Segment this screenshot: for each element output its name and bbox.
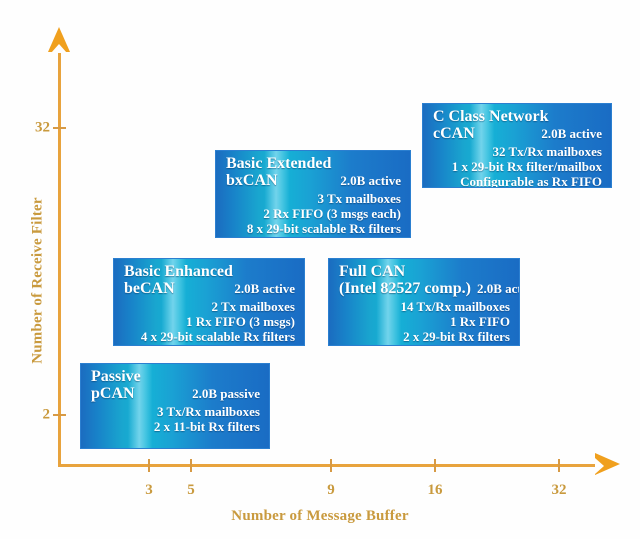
y-axis-tick (53, 127, 66, 129)
can-box-title: Basic Enhanced (124, 264, 295, 281)
can-controller-comparison-diagram: 3591632 322 Number of Message Buffer Num… (0, 0, 640, 539)
can-box-pcan[interactable]: PassivepCAN2.0B passive3 Tx/Rx mailboxes… (80, 363, 270, 449)
can-box-subtitle: bxCAN (226, 173, 278, 190)
can-box-spec: 2 Rx FIFO (3 msgs each) (226, 206, 401, 221)
can-box-content: Basic EnhancedbeCAN2.0B active2 Tx mailb… (114, 259, 304, 345)
can-box-subtitle-row: beCAN2.0B active (124, 281, 295, 298)
x-axis-tick (558, 459, 560, 472)
y-axis-title: Number of Receive Filter (30, 161, 47, 401)
can-box-spec: 2.0B active (541, 126, 602, 141)
can-box-subtitle: beCAN (124, 281, 175, 298)
can-box-spec: 2.0B active (234, 281, 295, 296)
can-box-subtitle: (Intel 82527 comp.) (339, 281, 471, 298)
can-box-spec: 2.0B passive (192, 386, 260, 401)
x-axis-tick-label: 5 (187, 482, 195, 499)
can-box-spec: 1 Rx FIFO (339, 314, 510, 329)
x-axis-tick (434, 459, 436, 472)
can-box-spec: 3 Tx/Rx mailboxes (91, 404, 260, 419)
can-box-content: C Class NetworkcCAN2.0B active32 Tx/Rx m… (423, 104, 611, 187)
x-axis-tick-label: 16 (428, 482, 443, 499)
can-box-bxcan[interactable]: Basic ExtendedbxCAN2.0B active3 Tx mailb… (215, 150, 411, 238)
can-box-spec: 1 Rx FIFO (3 msgs) (124, 314, 295, 329)
can-box-title: Full CAN (339, 264, 510, 281)
can-box-becan[interactable]: Basic EnhancedbeCAN2.0B active2 Tx mailb… (113, 258, 305, 346)
can-box-spec-list: 3 Tx mailboxes2 Rx FIFO (3 msgs each)8 x… (226, 191, 401, 237)
can-box-title: Passive (91, 369, 260, 386)
can-box-subtitle-row: bxCAN2.0B active (226, 173, 401, 190)
can-box-spec: 4 x 29-bit scalable Rx filters (124, 329, 295, 344)
x-axis-arrow-notch (595, 458, 604, 474)
can-box-content: Full CAN(Intel 82527 comp.)2.0B active14… (329, 259, 519, 345)
can-box-spec-list: 14 Tx/Rx mailboxes1 Rx FIFO2 x 29-bit Rx… (339, 299, 510, 345)
can-box-spec: 3 Tx mailboxes (226, 191, 401, 206)
can-box-subtitle-row: pCAN2.0B passive (91, 386, 260, 403)
can-box-title: C Class Network (433, 109, 602, 126)
can-box-subtitle: pCAN (91, 386, 135, 403)
can-box-spec: 14 Tx/Rx mailboxes (339, 299, 510, 314)
can-box-subtitle: cCAN (433, 126, 475, 143)
x-axis-tick (330, 459, 332, 472)
can-box-spec: 2 x 11-bit Rx filters (91, 419, 260, 434)
can-box-content: PassivepCAN2.0B passive3 Tx/Rx mailboxes… (81, 364, 269, 448)
can-box-spec: 2.0B active (477, 281, 520, 296)
can-box-spec: Configurable as Rx FIFO (433, 174, 602, 188)
y-axis-arrow-notch (51, 44, 67, 53)
can-box-spec-list: 3 Tx/Rx mailboxes2 x 11-bit Rx filters (91, 404, 260, 435)
can-box-spec: 1 x 29-bit Rx filter/mailbox (433, 159, 602, 174)
can-box-spec: 8 x 29-bit scalable Rx filters (226, 221, 401, 236)
can-box-spec-list: 2 Tx mailboxes1 Rx FIFO (3 msgs)4 x 29-b… (124, 299, 295, 345)
can-box-subtitle-row: cCAN2.0B active (433, 126, 602, 143)
y-axis-tick-label: 32 (26, 120, 50, 137)
y-axis-tick-label: 2 (26, 407, 50, 424)
x-axis-tick-label: 9 (327, 482, 335, 499)
can-box-spec: 32 Tx/Rx mailboxes (433, 144, 602, 159)
can-box-fullcan[interactable]: Full CAN(Intel 82527 comp.)2.0B active14… (328, 258, 520, 346)
can-box-ccan[interactable]: C Class NetworkcCAN2.0B active32 Tx/Rx m… (422, 103, 612, 188)
can-box-spec: 2 Tx mailboxes (124, 299, 295, 314)
x-axis-tick-label: 3 (145, 482, 153, 499)
can-box-spec-list: 32 Tx/Rx mailboxes1 x 29-bit Rx filter/m… (433, 144, 602, 188)
x-axis-tick-label: 32 (552, 482, 567, 499)
x-axis-tick (190, 459, 192, 472)
can-box-spec: 2 x 29-bit Rx filters (339, 329, 510, 344)
y-axis-line (58, 46, 61, 466)
can-box-title: Basic Extended (226, 156, 401, 173)
x-axis-tick (148, 459, 150, 472)
x-axis-title: Number of Message Buffer (0, 508, 640, 525)
y-axis-tick (53, 414, 66, 416)
x-axis-line (58, 464, 598, 467)
can-box-spec: 2.0B active (340, 173, 401, 188)
can-box-subtitle-row: (Intel 82527 comp.)2.0B active (339, 281, 510, 298)
can-box-content: Basic ExtendedbxCAN2.0B active3 Tx mailb… (216, 151, 410, 237)
